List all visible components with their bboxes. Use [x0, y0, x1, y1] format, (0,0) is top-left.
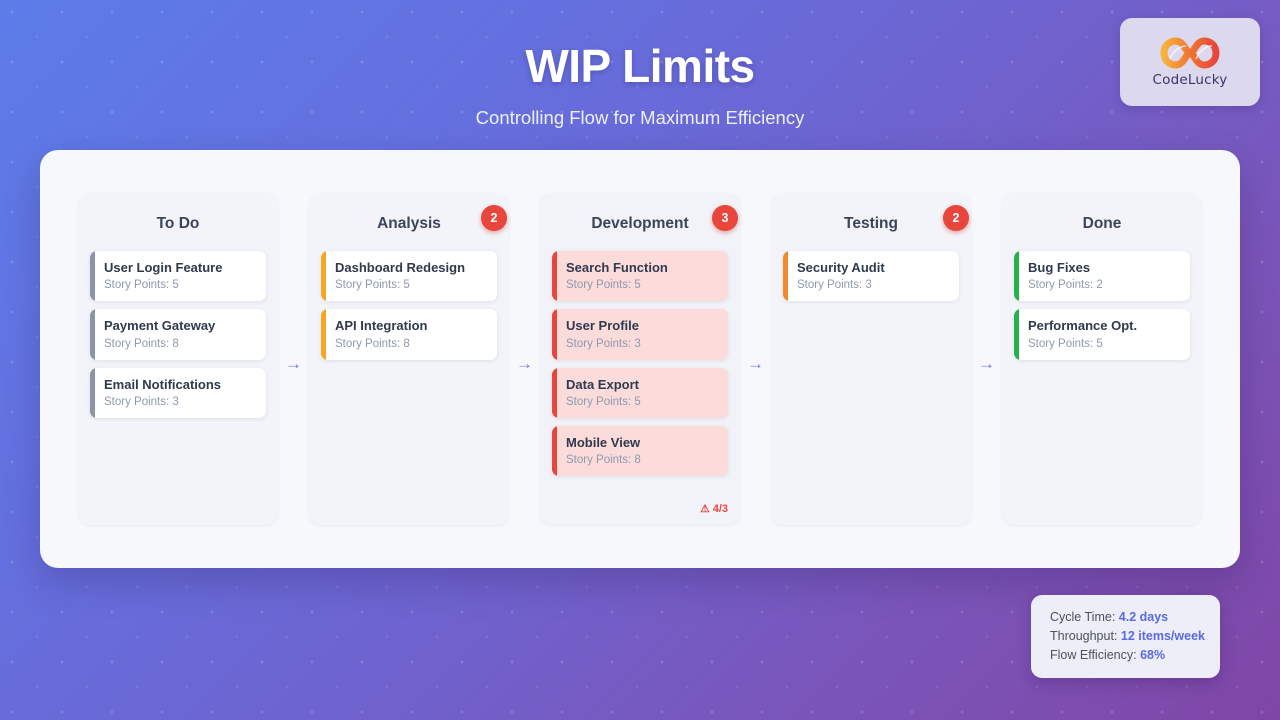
column-wrap: Analysis2Dashboard RedesignStory Points:…	[309, 193, 509, 525]
column-header: Development3	[552, 207, 728, 241]
column-header: Testing2	[783, 207, 959, 241]
column-header: To Do	[90, 207, 266, 241]
task-card-story-points: Story Points: 3	[566, 338, 718, 350]
task-card[interactable]: Payment GatewayStory Points: 8	[90, 309, 266, 359]
board-column-done[interactable]: DoneBug FixesStory Points: 2Performance …	[1002, 193, 1202, 525]
task-card-story-points: Story Points: 8	[566, 454, 718, 466]
page-subtitle: Controlling Flow for Maximum Efficiency	[0, 107, 1280, 129]
task-card-title: API Integration	[335, 318, 487, 334]
column-wrap: Development3Search FunctionStory Points:…	[540, 193, 740, 525]
page-title: WIP Limits	[0, 42, 1280, 91]
task-card[interactable]: Performance Opt.Story Points: 5	[1014, 309, 1190, 359]
task-card-story-points: Story Points: 5	[566, 396, 718, 408]
column-header: Analysis2	[321, 207, 497, 241]
task-card-title: User Profile	[566, 318, 718, 334]
flow-arrow-icon: →	[740, 354, 771, 374]
wip-limit-badge[interactable]: 2	[481, 205, 507, 231]
card-list: User Login FeatureStory Points: 5Payment…	[90, 251, 266, 418]
board-column-analysis[interactable]: Analysis2Dashboard RedesignStory Points:…	[309, 193, 509, 525]
metric-row: Flow Efficiency: 68%	[1050, 646, 1204, 665]
board-column-testing[interactable]: Testing2Security AuditStory Points: 3	[771, 193, 971, 525]
task-card[interactable]: Search FunctionStory Points: 5	[552, 251, 728, 301]
flow-metrics-panel: Cycle Time: 4.2 daysThroughput: 12 items…	[1031, 595, 1220, 678]
metric-label: Throughput:	[1050, 629, 1117, 643]
column-header: Done	[1014, 207, 1190, 241]
card-list: Bug FixesStory Points: 2Performance Opt.…	[1014, 251, 1190, 360]
flow-arrow-icon: →	[278, 354, 309, 374]
task-card-story-points: Story Points: 5	[566, 279, 718, 291]
metric-label: Flow Efficiency:	[1050, 648, 1137, 662]
task-card[interactable]: Data ExportStory Points: 5	[552, 368, 728, 418]
task-card-title: Email Notifications	[104, 377, 256, 393]
column-title: To Do	[157, 215, 200, 233]
task-card[interactable]: User Login FeatureStory Points: 5	[90, 251, 266, 301]
task-card-story-points: Story Points: 5	[1028, 338, 1180, 350]
task-card-story-points: Story Points: 5	[335, 279, 487, 291]
metric-row: Cycle Time: 4.2 days	[1050, 608, 1204, 627]
task-card-title: Payment Gateway	[104, 318, 256, 334]
task-card-story-points: Story Points: 3	[104, 396, 256, 408]
card-list: Search FunctionStory Points: 5User Profi…	[552, 251, 728, 476]
task-card-title: User Login Feature	[104, 260, 256, 276]
wip-limit-badge[interactable]: 3	[712, 205, 738, 231]
column-wrap: To DoUser Login FeatureStory Points: 5Pa…	[78, 193, 278, 525]
column-title: Testing	[844, 215, 898, 233]
task-card-title: Bug Fixes	[1028, 260, 1180, 276]
task-card-title: Search Function	[566, 260, 718, 276]
column-wrap: Testing2Security AuditStory Points: 3	[771, 193, 971, 525]
task-card-story-points: Story Points: 8	[104, 338, 256, 350]
wip-limit-badge[interactable]: 2	[943, 205, 969, 231]
board-column-development[interactable]: Development3Search FunctionStory Points:…	[540, 193, 740, 525]
task-card[interactable]: Dashboard RedesignStory Points: 5	[321, 251, 497, 301]
metric-label: Cycle Time:	[1050, 610, 1115, 624]
task-card-story-points: Story Points: 2	[1028, 279, 1180, 291]
column-title: Analysis	[377, 215, 441, 233]
flow-arrow-icon: →	[509, 354, 540, 374]
warning-triangle-icon: ⚠	[700, 504, 709, 515]
kanban-board: To DoUser Login FeatureStory Points: 5Pa…	[40, 150, 1240, 568]
card-list: Dashboard RedesignStory Points: 5API Int…	[321, 251, 497, 360]
metric-row: Throughput: 12 items/week	[1050, 627, 1204, 646]
task-card-story-points: Story Points: 8	[335, 338, 487, 350]
wip-limit-exceeded-warning: ⚠4/3	[552, 495, 728, 515]
column-title: Done	[1083, 215, 1122, 233]
metric-value: 12 items/week	[1121, 629, 1205, 643]
task-card-story-points: Story Points: 3	[797, 279, 949, 291]
task-card[interactable]: API IntegrationStory Points: 8	[321, 309, 497, 359]
task-card[interactable]: Mobile ViewStory Points: 8	[552, 426, 728, 476]
task-card[interactable]: Security AuditStory Points: 3	[783, 251, 959, 301]
task-card-title: Mobile View	[566, 435, 718, 451]
task-card[interactable]: Email NotificationsStory Points: 3	[90, 368, 266, 418]
task-card-story-points: Story Points: 5	[104, 279, 256, 291]
board-column-to-do[interactable]: To DoUser Login FeatureStory Points: 5Pa…	[78, 193, 278, 525]
task-card-title: Performance Opt.	[1028, 318, 1180, 334]
wip-count-text: 4/3	[713, 503, 728, 515]
page-header: WIP Limits Controlling Flow for Maximum …	[0, 42, 1280, 129]
task-card[interactable]: Bug FixesStory Points: 2	[1014, 251, 1190, 301]
column-wrap: DoneBug FixesStory Points: 2Performance …	[1002, 193, 1202, 525]
metric-value: 4.2 days	[1119, 610, 1168, 624]
task-card[interactable]: User ProfileStory Points: 3	[552, 309, 728, 359]
metric-value: 68%	[1140, 648, 1165, 662]
column-title: Development	[591, 215, 688, 233]
task-card-title: Security Audit	[797, 260, 949, 276]
flow-arrow-icon: →	[971, 354, 1002, 374]
task-card-title: Data Export	[566, 377, 718, 393]
card-list: Security AuditStory Points: 3	[783, 251, 959, 301]
task-card-title: Dashboard Redesign	[335, 260, 487, 276]
